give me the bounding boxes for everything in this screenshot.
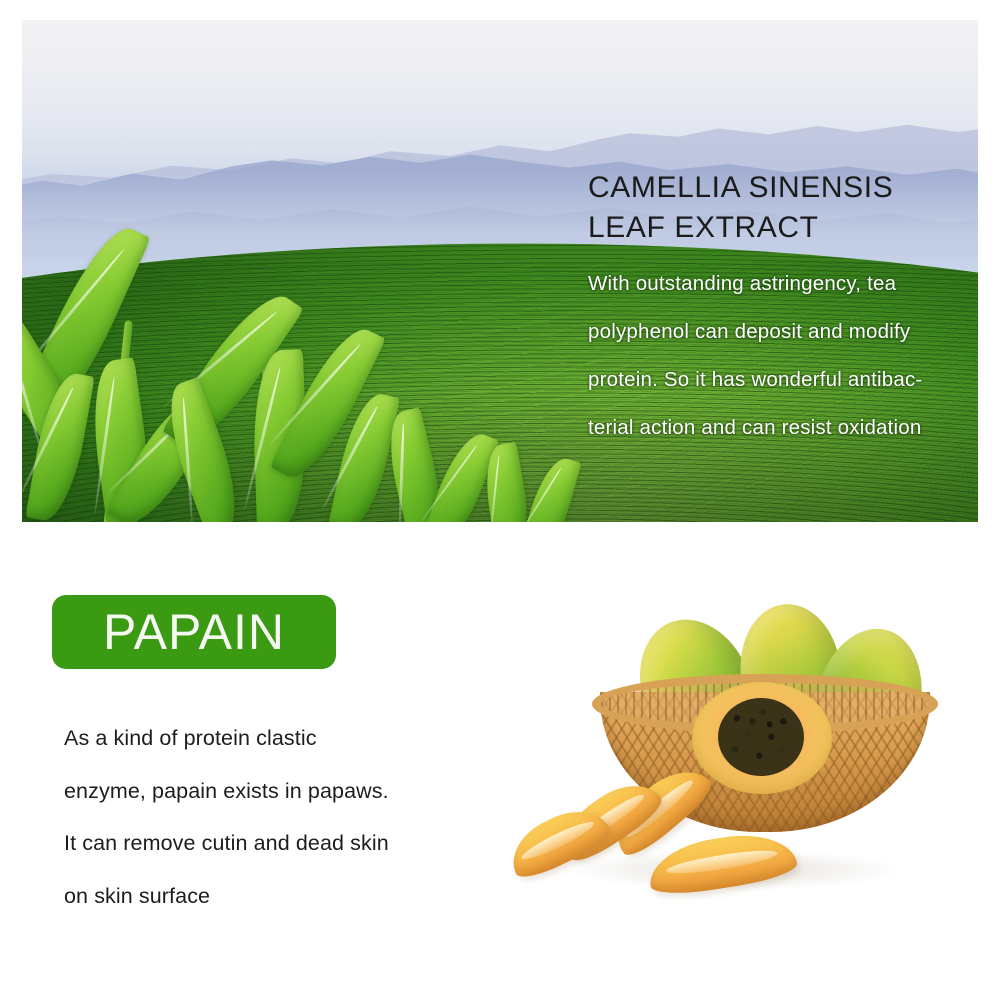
papain-badge: PAPAIN — [52, 595, 336, 669]
papain-description-line: It can remove cutin and dead skin — [64, 817, 494, 870]
banner-description-line: protein. So it has wonderful antibac- — [588, 356, 978, 404]
banner-description-line: With outstanding astringency, tea — [588, 260, 978, 308]
papain-description: As a kind of protein clastic enzyme, pap… — [64, 712, 494, 922]
papain-description-line: enzyme, papain exists in papaws. — [64, 765, 494, 818]
banner-description-line: terial action and can resist oxidation — [588, 404, 978, 452]
papain-badge-label: PAPAIN — [103, 607, 285, 657]
camellia-sinensis-banner: CAMELLIA SINENSIS LEAF EXTRACT With outs… — [22, 20, 978, 522]
papaya-seeds — [718, 698, 804, 776]
papaya-half-cut — [692, 682, 832, 794]
banner-description: With outstanding astringency, tea polyph… — [588, 260, 978, 452]
banner-description-line: polyphenol can deposit and modify — [588, 308, 978, 356]
papain-description-line: on skin surface — [64, 870, 494, 923]
banner-title: CAMELLIA SINENSIS LEAF EXTRACT — [588, 168, 978, 248]
papaya-photo — [500, 600, 960, 920]
papain-description-line: As a kind of protein clastic — [64, 712, 494, 765]
